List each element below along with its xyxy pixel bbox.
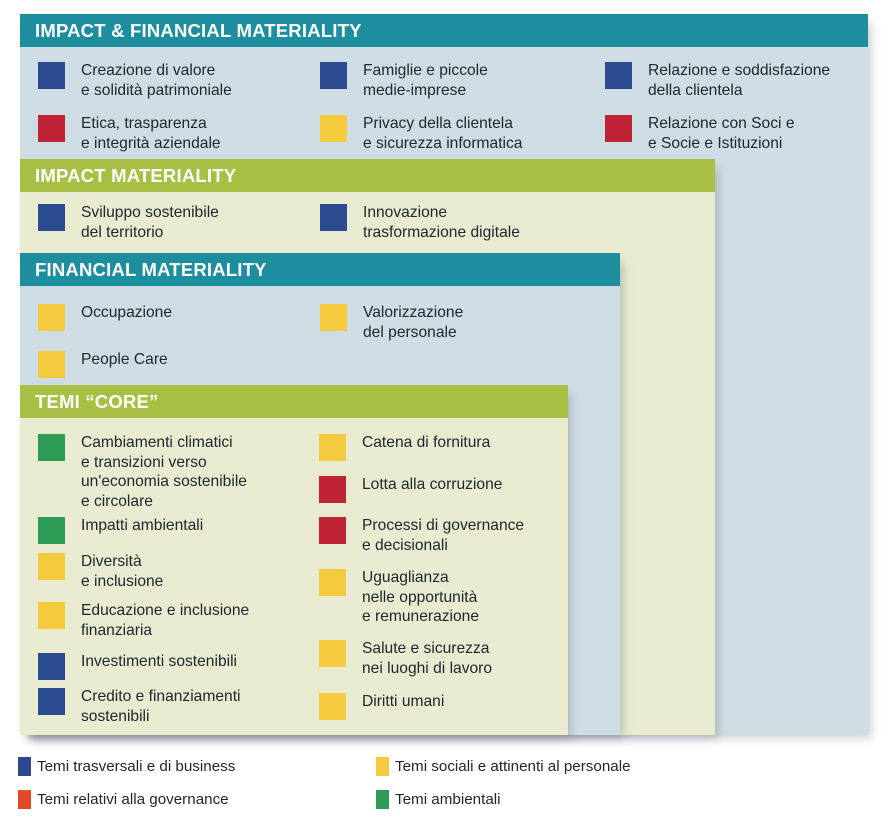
- swatch-red: [605, 115, 632, 142]
- item-privacy-clientela: Privacy della clientela e sicurezza info…: [320, 114, 600, 153]
- panel-title-temi-core: TEMI “CORE”: [35, 391, 158, 413]
- item-etica-trasparenza: Etica, trasparenza e integrità aziendale: [38, 114, 308, 153]
- panel-header-temi-core: TEMI “CORE”: [20, 385, 568, 418]
- swatch-yellow: [38, 304, 65, 331]
- swatch-blue: [38, 62, 65, 89]
- item-label: People Care: [81, 350, 168, 370]
- swatch-red: [319, 476, 346, 503]
- legend-label: Temi sociali e attinenti al personale: [395, 758, 631, 775]
- swatch-yellow: [319, 569, 346, 596]
- item-label: Cambiamenti climatici e transizioni vers…: [81, 433, 247, 511]
- swatch-red: [319, 517, 346, 544]
- item-occupazione: Occupazione: [38, 303, 308, 331]
- legend-label: Temi relativi alla governance: [37, 791, 229, 808]
- item-diversita-inclusione: Diversità e inclusione: [38, 552, 306, 591]
- item-label: Diritti umani: [362, 692, 444, 712]
- swatch-yellow: [376, 757, 389, 776]
- swatch-yellow: [38, 553, 65, 580]
- swatch-green: [38, 434, 65, 461]
- item-label: Processi di governance e decisionali: [362, 516, 524, 555]
- swatch-blue: [605, 62, 632, 89]
- item-label: Educazione e inclusione finanziaria: [81, 601, 249, 640]
- legend-item-temi-trasversali: Temi trasversali e di business: [18, 757, 235, 776]
- item-relazione-soci-istituzioni: Relazione con Soci e e Socie e Istituzio…: [605, 114, 865, 153]
- panel-title-impact-materiality: IMPACT MATERIALITY: [35, 165, 236, 187]
- swatch-yellow: [319, 640, 346, 667]
- legend-label: Temi ambientali: [395, 791, 501, 808]
- item-sviluppo-sostenibile-territorio: Sviluppo sostenibile del territorio: [38, 203, 308, 242]
- legend: Temi trasversali e di business Temi soci…: [0, 748, 888, 820]
- item-lotta-alla-corruzione: Lotta alla corruzione: [319, 475, 564, 503]
- swatch-blue: [38, 204, 65, 231]
- item-people-care: People Care: [38, 350, 308, 378]
- legend-item-temi-sociali: Temi sociali e attinenti al personale: [376, 757, 631, 776]
- swatch-red: [38, 115, 65, 142]
- item-label: Famiglie e piccole medie-imprese: [363, 61, 488, 100]
- item-impatti-ambientali: Impatti ambientali: [38, 516, 306, 544]
- panel-title-financial-materiality: FINANCIAL MATERIALITY: [35, 259, 267, 281]
- item-innovazione-trasformazione-digitale: Innovazione trasformazione digitale: [320, 203, 600, 242]
- swatch-yellow: [38, 602, 65, 629]
- item-uguaglianza-opportunita: Uguaglianza nelle opportunità e remunera…: [319, 568, 564, 627]
- swatch-blue: [18, 757, 31, 776]
- item-label: Sviluppo sostenibile del territorio: [81, 203, 219, 242]
- item-label: Innovazione trasformazione digitale: [363, 203, 520, 242]
- item-investimenti-sostenibili: Investimenti sostenibili: [38, 652, 306, 680]
- item-label: Credito e finanziamenti sostenibili: [81, 687, 241, 726]
- swatch-green: [376, 790, 389, 809]
- item-educazione-inclusione-finanziaria: Educazione e inclusione finanziaria: [38, 601, 306, 640]
- item-label: Creazione di valore e solidità patrimoni…: [81, 61, 232, 100]
- materiality-matrix-infographic: IMPACT & FINANCIAL MATERIALITY Creazione…: [0, 0, 888, 820]
- swatch-yellow: [319, 434, 346, 461]
- item-label: Uguaglianza nelle opportunità e remunera…: [362, 568, 479, 627]
- item-label: Occupazione: [81, 303, 172, 323]
- swatch-yellow: [320, 304, 347, 331]
- item-label: Salute e sicurezza nei luoghi di lavoro: [362, 639, 492, 678]
- item-label: Relazione con Soci e e Socie e Istituzio…: [648, 114, 795, 153]
- swatch-yellow: [319, 693, 346, 720]
- panel-header-impact-financial-materiality: IMPACT & FINANCIAL MATERIALITY: [20, 14, 868, 47]
- item-label: Privacy della clientela e sicurezza info…: [363, 114, 522, 153]
- item-label: Lotta alla corruzione: [362, 475, 502, 495]
- legend-item-temi-ambientali: Temi ambientali: [376, 790, 501, 809]
- item-label: Investimenti sostenibili: [81, 652, 237, 672]
- item-label: Diversità e inclusione: [81, 552, 163, 591]
- item-relazione-soddisfazione-clientela: Relazione e soddisfazione della clientel…: [605, 61, 865, 100]
- swatch-yellow: [38, 351, 65, 378]
- swatch-blue: [38, 653, 65, 680]
- item-creazione-di-valore: Creazione di valore e solidità patrimoni…: [38, 61, 308, 100]
- swatch-blue: [320, 62, 347, 89]
- item-label: Valorizzazione del personale: [363, 303, 463, 342]
- item-label: Catena di fornitura: [362, 433, 490, 453]
- panel-header-impact-materiality: IMPACT MATERIALITY: [20, 159, 715, 192]
- legend-item-temi-governance: Temi relativi alla governance: [18, 790, 229, 809]
- swatch-orange: [18, 790, 31, 809]
- item-salute-sicurezza-lavoro: Salute e sicurezza nei luoghi di lavoro: [319, 639, 564, 678]
- item-label: Impatti ambientali: [81, 516, 203, 536]
- item-catena-di-fornitura: Catena di fornitura: [319, 433, 564, 461]
- swatch-yellow: [320, 115, 347, 142]
- panel-header-financial-materiality: FINANCIAL MATERIALITY: [20, 253, 620, 286]
- panel-title-impact-financial-materiality: IMPACT & FINANCIAL MATERIALITY: [35, 20, 362, 42]
- swatch-blue: [320, 204, 347, 231]
- item-famiglie-piccole-medie-imprese: Famiglie e piccole medie-imprese: [320, 61, 600, 100]
- item-cambiamenti-climatici: Cambiamenti climatici e transizioni vers…: [38, 433, 306, 511]
- swatch-blue: [38, 688, 65, 715]
- item-diritti-umani: Diritti umani: [319, 692, 564, 720]
- legend-label: Temi trasversali e di business: [37, 758, 235, 775]
- item-processi-di-governance: Processi di governance e decisionali: [319, 516, 564, 555]
- item-label: Relazione e soddisfazione della clientel…: [648, 61, 830, 100]
- swatch-green: [38, 517, 65, 544]
- item-credito-finanziamenti-sostenibili: Credito e finanziamenti sostenibili: [38, 687, 306, 726]
- panel-temi-core: TEMI “CORE” Cambiamenti climatici e tran…: [20, 385, 568, 735]
- item-valorizzazione-personale: Valorizzazione del personale: [320, 303, 580, 342]
- item-label: Etica, trasparenza e integrità aziendale: [81, 114, 221, 153]
